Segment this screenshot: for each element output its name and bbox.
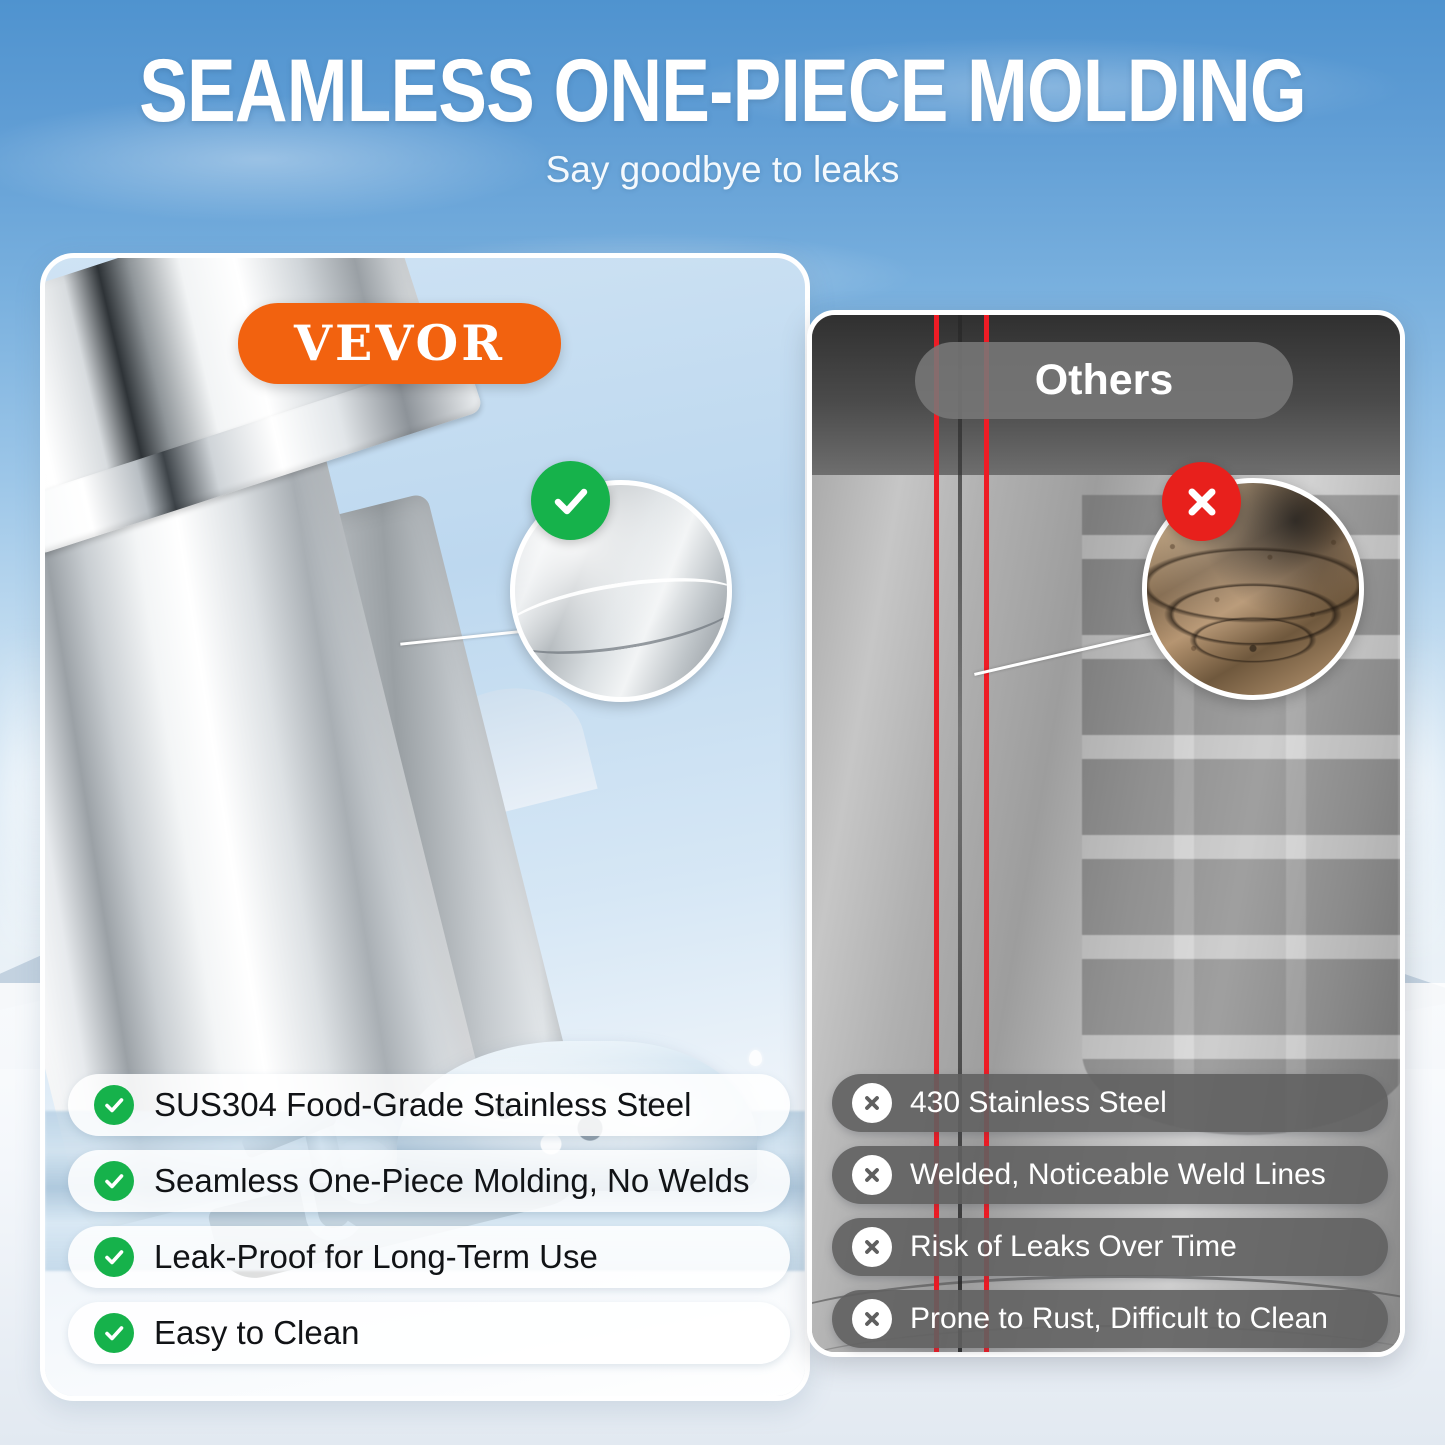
water-droplet (749, 1050, 762, 1066)
feature-label: Easy to Clean (154, 1314, 359, 1352)
feature-label: SUS304 Food-Grade Stainless Steel (154, 1086, 691, 1124)
feature-label: Seamless One-Piece Molding, No Welds (154, 1162, 749, 1200)
vevor-feature-list: SUS304 Food-Grade Stainless Steel Seamle… (68, 1074, 790, 1364)
check-icon (94, 1161, 134, 1201)
cross-icon (852, 1083, 892, 1123)
others-feature-list: 430 Stainless Steel Welded, Noticeable W… (832, 1074, 1388, 1348)
page-title: SEAMLESS ONE-PIECE MOLDING (130, 46, 1315, 135)
feature-label: 430 Stainless Steel (910, 1086, 1167, 1120)
vevor-brand-badge: VEVOR (238, 303, 561, 384)
infographic-stage: SEAMLESS ONE-PIECE MOLDING Say goodbye t… (0, 0, 1445, 1445)
others-badge: Others (915, 342, 1293, 419)
list-item: 430 Stainless Steel (832, 1074, 1388, 1132)
list-item: SUS304 Food-Grade Stainless Steel (68, 1074, 790, 1136)
check-icon (94, 1237, 134, 1277)
check-icon (94, 1313, 134, 1353)
list-item: Risk of Leaks Over Time (832, 1218, 1388, 1276)
feature-label: Prone to Rust, Difficult to Clean (910, 1302, 1328, 1336)
list-item: Welded, Noticeable Weld Lines (832, 1146, 1388, 1204)
list-item: Prone to Rust, Difficult to Clean (832, 1290, 1388, 1348)
feature-label: Risk of Leaks Over Time (910, 1230, 1237, 1264)
header: SEAMLESS ONE-PIECE MOLDING Say goodbye t… (0, 0, 1445, 191)
cross-icon (852, 1299, 892, 1339)
cross-circle-icon (1162, 462, 1241, 541)
feature-label: Welded, Noticeable Weld Lines (910, 1158, 1326, 1192)
list-item: Leak-Proof for Long-Term Use (68, 1226, 790, 1288)
list-item: Easy to Clean (68, 1302, 790, 1364)
cross-icon (852, 1155, 892, 1195)
page-subtitle: Say goodbye to leaks (0, 149, 1445, 191)
check-circle-icon (531, 461, 610, 540)
list-item: Seamless One-Piece Molding, No Welds (68, 1150, 790, 1212)
check-icon (94, 1085, 134, 1125)
feature-label: Leak-Proof for Long-Term Use (154, 1238, 598, 1276)
cross-icon (852, 1227, 892, 1267)
